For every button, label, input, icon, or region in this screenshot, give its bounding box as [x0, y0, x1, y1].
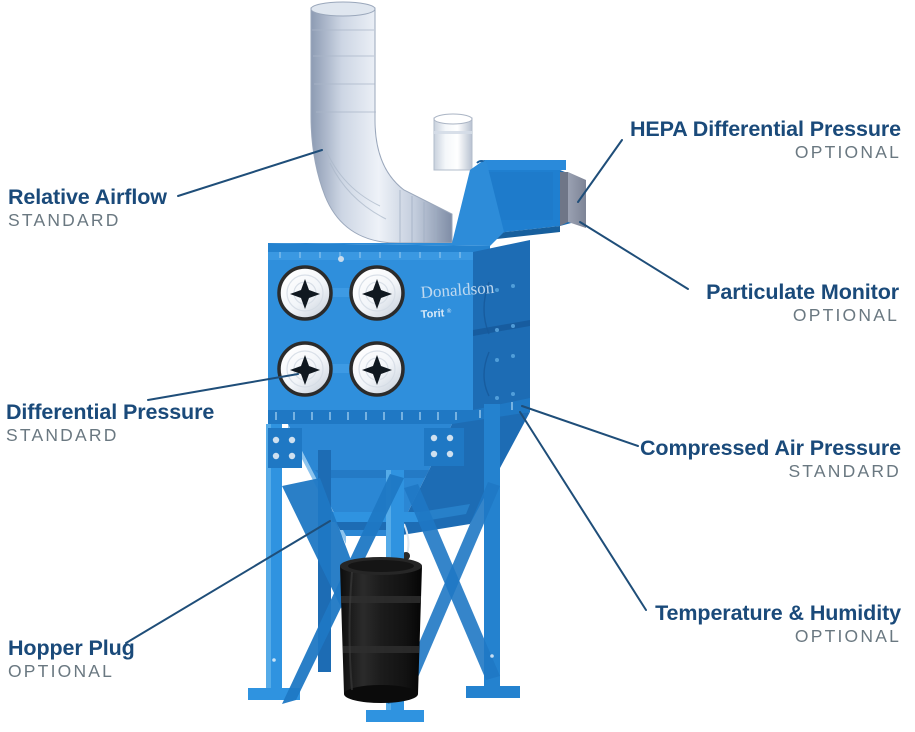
callout-title: Compressed Air Pressure: [640, 437, 901, 459]
collection-drum: [340, 557, 422, 703]
callout-hopper-plug[interactable]: Hopper Plug OPTIONAL: [8, 637, 135, 681]
callout-title: HEPA Differential Pressure: [630, 118, 901, 140]
callout-subtitle: OPTIONAL: [706, 306, 899, 324]
callout-differential-pressure[interactable]: Differential Pressure STANDARD: [6, 401, 214, 445]
vent-stack: [434, 114, 472, 170]
callout-title: Relative Airflow: [8, 186, 167, 208]
svg-text:Torit: Torit: [420, 307, 445, 321]
callout-title: Temperature & Humidity: [655, 602, 901, 624]
leader-hepa: [578, 140, 622, 202]
callout-hepa-differential-pressure[interactable]: HEPA Differential Pressure OPTIONAL: [630, 118, 901, 162]
leader-relative-airflow: [178, 150, 322, 196]
leader-particulate: [580, 222, 688, 289]
callout-subtitle: STANDARD: [640, 462, 901, 480]
leader-hopper-plug: [126, 521, 330, 643]
callout-subtitle: OPTIONAL: [630, 143, 901, 161]
hepa-end-cap: [560, 172, 586, 228]
callout-subtitle: OPTIONAL: [8, 662, 135, 680]
callout-subtitle: OPTIONAL: [655, 627, 901, 645]
callout-title: Hopper Plug: [8, 637, 135, 659]
callout-subtitle: STANDARD: [8, 211, 167, 229]
inlet-duct-elbow: [311, 2, 452, 243]
callout-compressed-air-pressure[interactable]: Compressed Air Pressure STANDARD: [640, 437, 901, 481]
callout-temperature-humidity[interactable]: Temperature & Humidity OPTIONAL: [655, 602, 901, 646]
callout-title: Particulate Monitor: [706, 281, 899, 303]
callout-particulate-monitor[interactable]: Particulate Monitor OPTIONAL: [706, 281, 899, 325]
leader-compressed-air: [522, 406, 638, 446]
callout-title: Differential Pressure: [6, 401, 214, 423]
diagram-canvas: Donaldson Torit ®: [0, 0, 915, 732]
callout-subtitle: STANDARD: [6, 426, 214, 444]
callout-relative-airflow[interactable]: Relative Airflow STANDARD: [8, 186, 167, 230]
